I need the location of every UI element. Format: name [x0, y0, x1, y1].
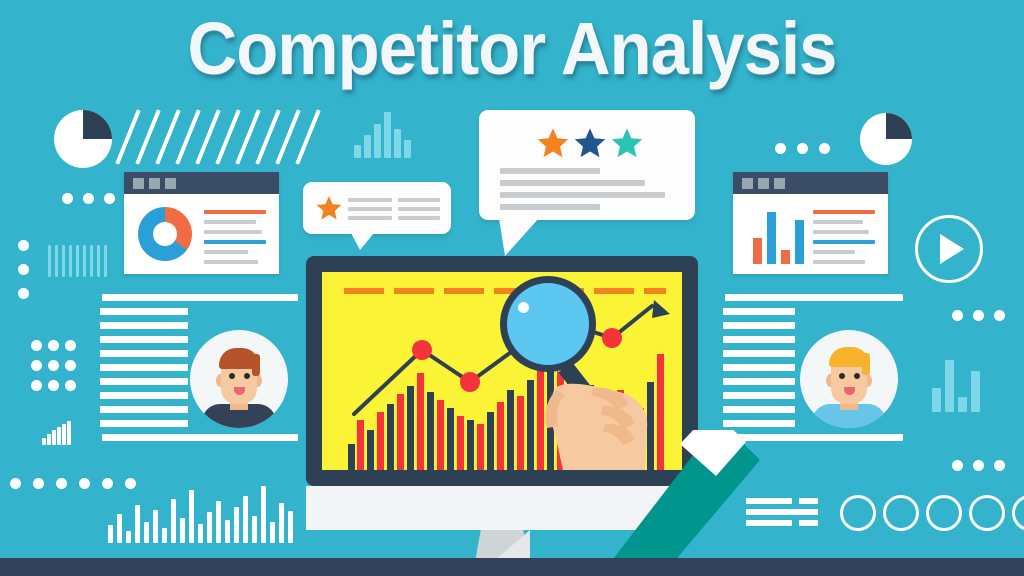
ring-row-bottom-right — [840, 495, 1024, 531]
card-text-lines — [813, 210, 875, 264]
orange-star-icon — [316, 195, 342, 221]
pie-wedge — [83, 110, 112, 139]
bubble-text-lines — [500, 168, 665, 210]
bottom-strip — [0, 558, 1024, 576]
avatar-eye — [839, 373, 845, 379]
avatar-person-left[interactable] — [190, 330, 288, 428]
avatar-person-right[interactable] — [800, 330, 898, 428]
avatar-hair-side — [252, 354, 260, 376]
avatar-eye — [854, 373, 860, 379]
avatar-circle — [190, 330, 288, 428]
page-title: Competitor Analysis — [36, 6, 988, 92]
dot-row-top-right — [775, 143, 841, 155]
tick-lines-left — [48, 245, 112, 277]
pie-chart-left — [54, 110, 112, 168]
window-button[interactable] — [133, 178, 144, 189]
window-titlebar — [124, 172, 279, 194]
window-button[interactable] — [742, 178, 753, 189]
bubble-tail — [351, 233, 374, 250]
browser-window-donut[interactable] — [124, 172, 279, 274]
trend-marker — [460, 372, 480, 392]
magnifier-highlight — [518, 302, 529, 313]
avatar-circle — [800, 330, 898, 428]
bar-chart-icon-top — [354, 110, 412, 158]
donut-chart — [138, 207, 192, 261]
pie-chart-right — [860, 113, 912, 165]
orange-star-icon — [537, 127, 569, 159]
circle-outline[interactable] — [926, 495, 962, 531]
circle-outline[interactable] — [840, 495, 876, 531]
dot-row-right-mid — [952, 310, 1012, 322]
window-button[interactable] — [149, 178, 160, 189]
donut-hole — [153, 222, 177, 246]
navy-star-icon — [574, 127, 606, 159]
circle-outline[interactable] — [1012, 495, 1024, 531]
dot-row-bottom-right — [952, 460, 1012, 472]
browser-window-bars[interactable] — [733, 172, 888, 274]
window-titlebar — [733, 172, 888, 194]
diagonal-lines-decor — [120, 108, 310, 170]
review-bubble-small[interactable] — [303, 182, 451, 234]
poster-canvas: Competitor Analysis — [0, 0, 1024, 576]
dot-column-left — [18, 240, 30, 306]
window-button[interactable] — [774, 178, 785, 189]
teal-star-icon — [611, 127, 643, 159]
card-text-lines — [204, 210, 266, 264]
review-bubble-large[interactable] — [479, 110, 695, 220]
bar-chart-bottom-left — [108, 485, 304, 543]
circle-outline[interactable] — [883, 495, 919, 531]
person-arm — [570, 430, 760, 576]
avatar-hair-side — [862, 353, 870, 375]
play-triangle-icon — [940, 234, 964, 264]
bubble-text-column — [398, 198, 440, 220]
window-button[interactable] — [165, 178, 176, 189]
avatar-eye — [244, 373, 250, 379]
dot-grid-3x3 — [31, 340, 91, 400]
bubble-text-column — [348, 198, 392, 220]
circle-outline[interactable] — [969, 495, 1005, 531]
pie-wedge — [886, 113, 912, 139]
avatar-eye — [229, 373, 235, 379]
card-bar-chart — [753, 206, 807, 264]
dot-row-left — [62, 193, 122, 205]
bar-chart-icon-right — [932, 360, 980, 412]
trend-marker — [412, 340, 432, 360]
bubble-tail — [499, 218, 539, 256]
window-button[interactable] — [758, 178, 769, 189]
bar-chart-icon-left — [42, 421, 74, 445]
play-button[interactable] — [915, 215, 983, 283]
